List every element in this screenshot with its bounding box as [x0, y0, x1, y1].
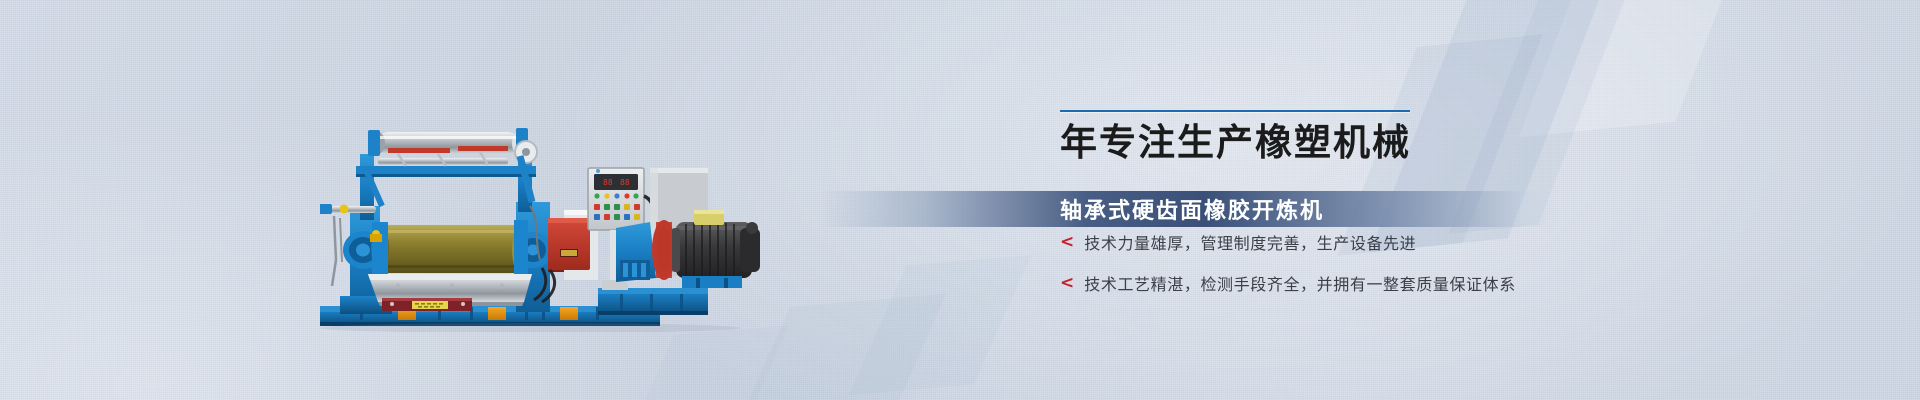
- decorative-parallelogram-6: [621, 325, 789, 400]
- list-item: < 技术工艺精湛，检测手段齐全，并拥有一整套质量保证体系: [1060, 271, 1800, 295]
- feature-list: < 技术力量雄厚，管理制度完善，生产设备先进 < 技术工艺精湛，检测手段齐全，并…: [1060, 230, 1800, 295]
- headline-rule-highlight: [1060, 112, 1410, 113]
- svg-text:88: 88: [603, 178, 613, 187]
- promo-banner: 88 88: [0, 0, 1920, 400]
- rubber-mixing-mill-illustration: 88 88: [320, 110, 772, 332]
- feature-text: 技术工艺精湛，检测手段齐全，并拥有一整套质量保证体系: [1084, 271, 1516, 295]
- subtitle-bar: 轴承式硬齿面橡胶开炼机: [820, 191, 1560, 227]
- list-item: < 技术力量雄厚，管理制度完善，生产设备先进: [1060, 230, 1800, 254]
- subtitle: 轴承式硬齿面橡胶开炼机: [1060, 193, 1324, 225]
- chevron-left-icon: <: [1060, 234, 1074, 251]
- banner-text-block: 年专注生产橡塑机械 轴承式硬齿面橡胶开炼机 < 技术力量雄厚，管理制度完善，生产…: [1060, 110, 1800, 312]
- feature-text: 技术力量雄厚，管理制度完善，生产设备先进: [1084, 230, 1416, 254]
- headline: 年专注生产橡塑机械: [1060, 122, 1800, 163]
- chevron-left-icon: <: [1060, 275, 1074, 292]
- decorative-parallelogram-5: [849, 255, 1032, 395]
- svg-text:88: 88: [620, 178, 630, 187]
- product-image: 88 88: [320, 110, 772, 332]
